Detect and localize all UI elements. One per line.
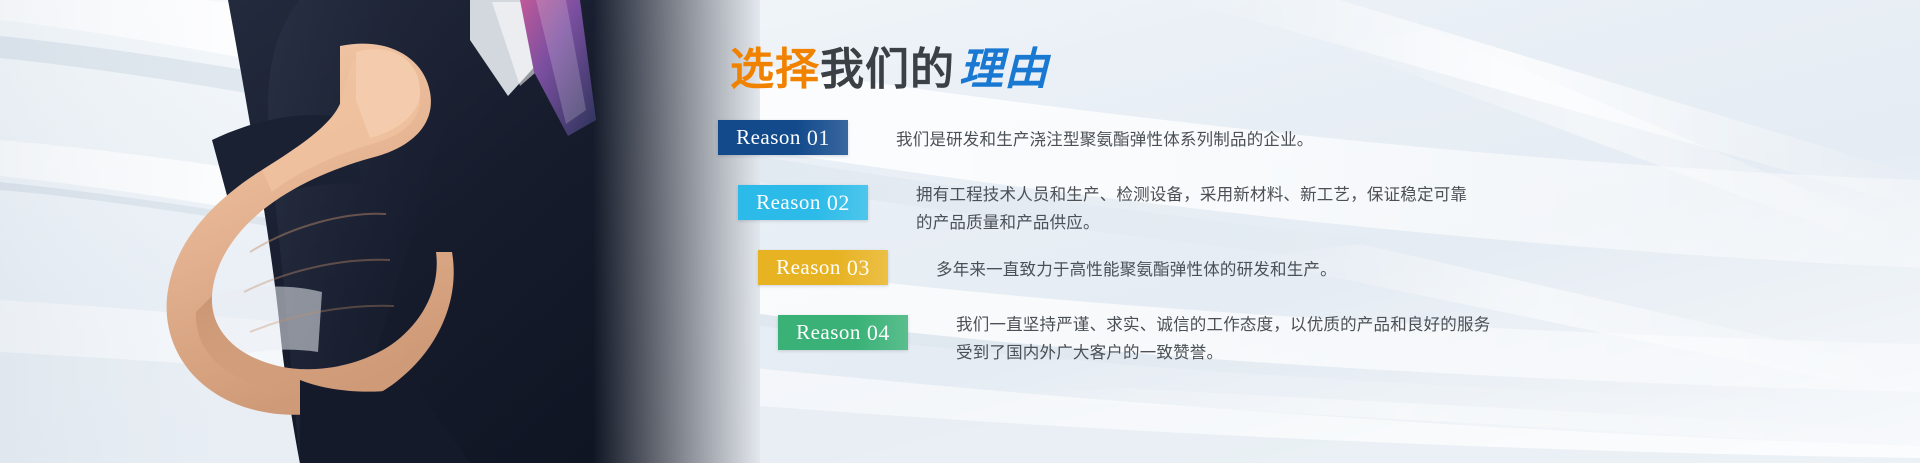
reason-list: Reason 01 我们是研发和生产浇注型聚氨酯弹性体系列制品的企业。 Reas… xyxy=(700,120,1920,380)
reason-badge-number: 01 xyxy=(801,125,830,151)
reason-badge-label: Reason xyxy=(736,125,801,150)
reason-badge-04[interactable]: Reason 04 xyxy=(778,315,908,350)
reason-badge-number: 02 xyxy=(821,190,850,216)
title-part-orange: 选择 xyxy=(730,45,820,94)
reason-badge-label: Reason xyxy=(756,190,821,215)
list-item: Reason 04 我们一直坚持严谨、求实、诚信的工作态度，以优质的产品和良好的… xyxy=(700,315,1920,380)
title-part-dark: 我们的 xyxy=(820,45,955,94)
handshake-illustration-icon xyxy=(0,0,760,463)
list-item: Reason 01 我们是研发和生产浇注型聚氨酯弹性体系列制品的企业。 xyxy=(700,120,1920,185)
businessman-handshake-photo xyxy=(0,0,760,463)
page-title: 选择我们的理由 xyxy=(730,48,1049,92)
why-choose-us-banner: 选择我们的理由 Reason 01 我们是研发和生产浇注型聚氨酯弹性体系列制品的… xyxy=(0,0,1920,463)
reason-badge-number: 03 xyxy=(841,255,870,281)
banner-content: 选择我们的理由 Reason 01 我们是研发和生产浇注型聚氨酯弹性体系列制品的… xyxy=(700,0,1920,463)
reason-text-04: 我们一直坚持严谨、求实、诚信的工作态度，以优质的产品和良好的服务 受到了国内外广… xyxy=(956,311,1490,367)
reason-badge-01[interactable]: Reason 01 xyxy=(718,120,848,155)
reason-badge-03[interactable]: Reason 03 xyxy=(758,250,888,285)
reason-badge-02[interactable]: Reason 02 xyxy=(738,185,868,220)
title-part-blue: 理由 xyxy=(955,45,1049,94)
reason-text-02: 拥有工程技术人员和生产、检测设备，采用新材料、新工艺，保证稳定可靠 的产品质量和… xyxy=(916,181,1467,237)
reason-badge-label: Reason xyxy=(776,255,841,280)
reason-text-01: 我们是研发和生产浇注型聚氨酯弹性体系列制品的企业。 xyxy=(896,126,1314,154)
reason-text-03: 多年来一直致力于高性能聚氨酯弹性体的研发和生产。 xyxy=(936,256,1337,284)
reason-badge-label: Reason xyxy=(796,320,861,345)
reason-badge-number: 04 xyxy=(861,320,890,346)
list-item: Reason 03 多年来一直致力于高性能聚氨酯弹性体的研发和生产。 xyxy=(700,250,1920,315)
list-item: Reason 02 拥有工程技术人员和生产、检测设备，采用新材料、新工艺，保证稳… xyxy=(700,185,1920,250)
